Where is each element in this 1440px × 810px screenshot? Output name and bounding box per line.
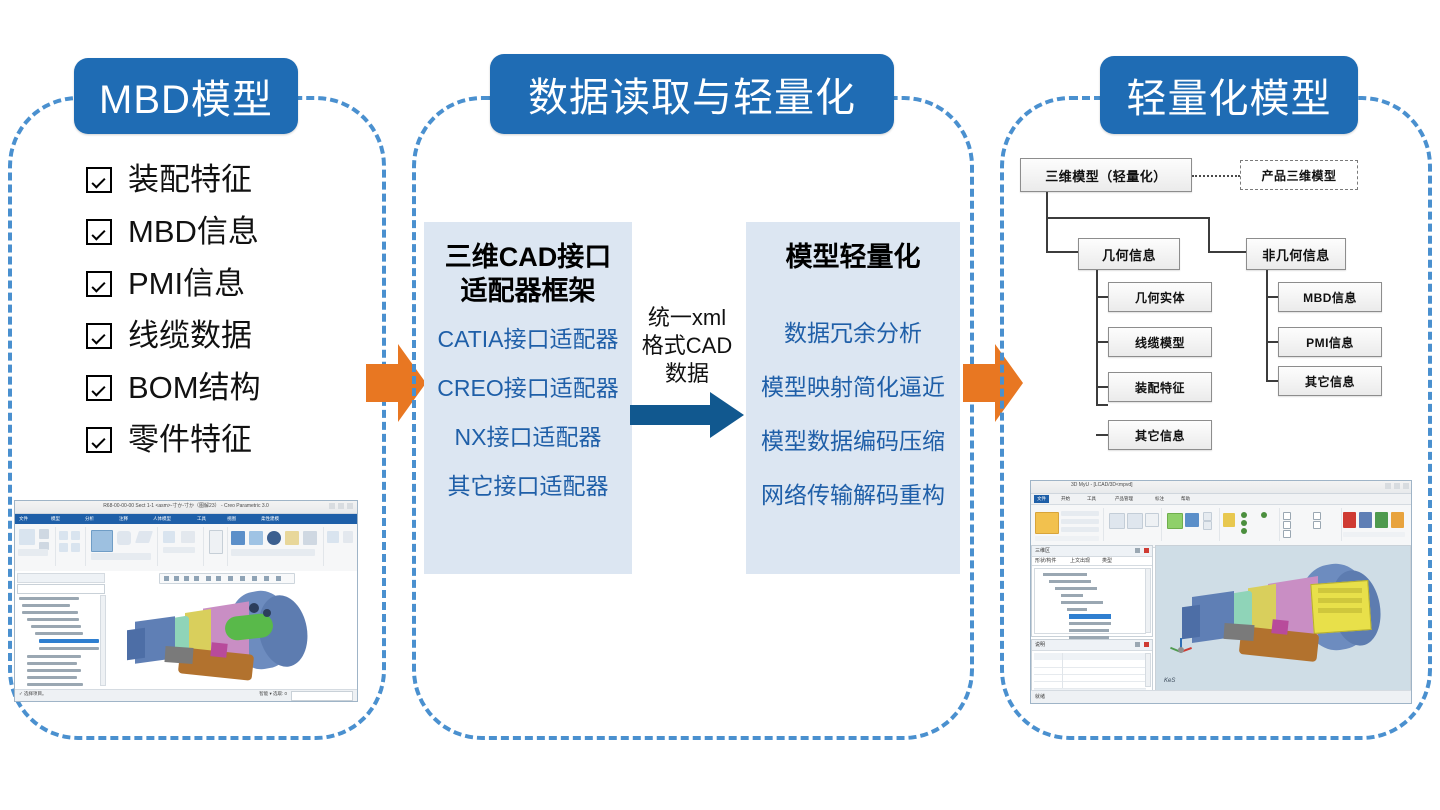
model-lightweighting-box: 模型轻量化 数据冗余分析 模型映射简化逼近 模型数据编码压缩 网络传输解码重构 bbox=[746, 222, 960, 574]
structure-panel[interactable]: 三维区 形状/构件 上文出现 类型 bbox=[1031, 545, 1153, 637]
properties-grid[interactable] bbox=[1034, 653, 1146, 688]
list-item[interactable]: 模型映射简化逼近 bbox=[746, 372, 960, 402]
minimize-icon[interactable] bbox=[1385, 483, 1391, 489]
tab-model[interactable]: 模型 bbox=[51, 515, 60, 523]
workspace: 三维区 形状/构件 上文出现 类型 bbox=[1031, 545, 1411, 691]
tree-line bbox=[1046, 192, 1048, 219]
list-item[interactable]: CATIA接口适配器 bbox=[424, 324, 632, 354]
tab-flexible-modeling[interactable]: 柔性建模 bbox=[261, 515, 279, 523]
blue-flow-arrow bbox=[630, 392, 744, 438]
ribbon[interactable] bbox=[1031, 505, 1411, 548]
pin-icon[interactable] bbox=[1135, 548, 1140, 553]
ribbon-tabbar[interactable]: 文件 开始 工具 产品管理 标注 帮助 bbox=[1031, 494, 1411, 505]
status-text-left: ✓ 选择项目。 bbox=[19, 691, 47, 697]
tree-line bbox=[1208, 251, 1248, 253]
ribbon[interactable] bbox=[15, 524, 357, 573]
tree-line bbox=[1046, 251, 1080, 253]
list-item[interactable]: NX接口适配器 bbox=[424, 422, 632, 452]
list-item: 零件特征 bbox=[40, 420, 360, 460]
checklist-label: BOM结构 bbox=[128, 368, 261, 408]
cad-interface-adapter-list: CATIA接口适配器 CREO接口适配器 NX接口适配器 其它接口适配器 bbox=[424, 324, 632, 501]
tab-manikin[interactable]: 人体模型 bbox=[153, 515, 171, 523]
statusbar: ✓ 选择项目。 智能 ▾ 选取: 0 bbox=[15, 689, 357, 701]
tab-start[interactable]: 开始 bbox=[1061, 495, 1070, 503]
tree-line bbox=[1046, 217, 1048, 253]
list-item[interactable]: 网络传输解码重构 bbox=[746, 480, 960, 510]
xml-format-label: 统一xml 格式CAD 数据 bbox=[624, 304, 750, 388]
tab-view[interactable]: 视图 bbox=[227, 515, 236, 523]
checklist-label: PMI信息 bbox=[128, 264, 245, 304]
list-item[interactable]: CREO接口适配器 bbox=[424, 373, 632, 403]
lightweight-viewer-screenshot: 3D MyU - [LCAD/3D<mpvd] 文件 开始 工具 产品管理 标注… bbox=[1030, 480, 1412, 704]
list-item[interactable]: 模型数据编码压缩 bbox=[746, 426, 960, 456]
status-text-right: 智能 ▾ 选取: 0 bbox=[259, 691, 287, 697]
checkbox-checked-icon bbox=[86, 375, 112, 401]
list-item: 线缆数据 bbox=[40, 316, 360, 356]
tab-shapes[interactable]: 形状/构件 bbox=[1035, 557, 1056, 564]
tab-tools[interactable]: 工具 bbox=[197, 515, 206, 523]
checkbox-checked-icon bbox=[86, 427, 112, 453]
cad-model-graphic bbox=[1162, 560, 1412, 672]
model-tree-toolbar[interactable] bbox=[17, 573, 105, 583]
statusbar: 就绪 bbox=[1031, 690, 1411, 703]
ribbon-group-structure bbox=[1219, 508, 1280, 541]
checklist-label: 零件特征 bbox=[128, 420, 252, 460]
tab-occurrences[interactable]: 上文出现 bbox=[1070, 557, 1090, 564]
tree-node-geometry-info: 几何信息 bbox=[1078, 238, 1180, 270]
tree-node-other-info-geometry: 其它信息 bbox=[1108, 420, 1212, 450]
model-tree-panel[interactable] bbox=[15, 571, 108, 690]
list-item: 装配特征 bbox=[40, 160, 360, 200]
status-combobox[interactable] bbox=[291, 691, 353, 701]
ribbon-group-visibility bbox=[1161, 508, 1220, 541]
maximize-icon[interactable] bbox=[1394, 483, 1400, 489]
tree-node-nongeometry-info: 非几何信息 bbox=[1246, 238, 1346, 270]
ribbon-group-datum bbox=[55, 527, 86, 566]
tab-file[interactable]: 文件 bbox=[1034, 495, 1049, 503]
3d-viewport[interactable] bbox=[107, 571, 357, 690]
checklist-label: 装配特征 bbox=[128, 160, 252, 200]
close-icon[interactable] bbox=[1144, 642, 1149, 647]
properties-panel-title: 说明 bbox=[1035, 641, 1045, 648]
ribbon-group-view bbox=[1103, 508, 1162, 541]
checkbox-checked-icon bbox=[86, 323, 112, 349]
tree-line bbox=[1096, 296, 1108, 298]
tab-annotate[interactable]: 标注 bbox=[1155, 495, 1164, 503]
ribbon-tabbar[interactable]: 文件 模型 分析 注释 人体模型 工具 视图 柔性建模 bbox=[15, 514, 357, 524]
properties-scrollbar[interactable] bbox=[1145, 653, 1151, 687]
checkbox-checked-icon bbox=[86, 271, 112, 297]
window-title: R68-00-00-00 Sect 1-1 <asm>-寸か-寸か（图解23） … bbox=[103, 502, 269, 509]
window-title: 3D MyU - [LCAD/3D<mpvd] bbox=[1071, 482, 1133, 488]
list-item[interactable]: 其它接口适配器 bbox=[424, 471, 632, 501]
ribbon-group-modelintent bbox=[227, 527, 324, 566]
panel-mid-title: 数据读取与轻量化 bbox=[490, 54, 894, 134]
tree-node-assembly-feature: 装配特征 bbox=[1108, 372, 1212, 402]
tree-node-pmi-info: PMI信息 bbox=[1278, 327, 1382, 357]
tree-line bbox=[1266, 380, 1278, 382]
viewport-toolbar[interactable] bbox=[159, 573, 295, 584]
3d-viewport[interactable]: KeS bbox=[1155, 545, 1411, 691]
window-titlebar: 3D MyU - [LCAD/3D<mpvd] bbox=[1031, 481, 1411, 494]
list-item[interactable]: 数据冗余分析 bbox=[746, 318, 960, 348]
model-tree-scrollbar[interactable] bbox=[100, 595, 106, 686]
tree-line bbox=[1266, 341, 1278, 343]
checklist-label: 线缆数据 bbox=[128, 316, 252, 356]
cad-interface-adapter-box: 三维CAD接口 适配器框架 CATIA接口适配器 CREO接口适配器 NX接口适… bbox=[424, 222, 632, 574]
list-item: BOM结构 bbox=[40, 368, 360, 408]
ribbon-group-shapes bbox=[85, 527, 158, 566]
ribbon-group-workpiece bbox=[1279, 508, 1342, 541]
structure-scrollbar[interactable] bbox=[1145, 568, 1151, 633]
tree-node-product-model: 产品三维模型 bbox=[1240, 160, 1358, 190]
tree-node-root: 三维模型（轻量化） bbox=[1020, 158, 1192, 192]
creo-parametric-screenshot: R68-00-00-00 Sect 1-1 <asm>-寸か-寸か（图解23） … bbox=[14, 500, 358, 702]
tree-node-other-info-nongeometry: 其它信息 bbox=[1278, 366, 1382, 396]
ribbon-group-operations bbox=[1031, 508, 1104, 541]
close-icon[interactable] bbox=[347, 503, 353, 509]
ribbon-group-operations bbox=[15, 527, 56, 566]
ribbon-group-pattern bbox=[203, 527, 228, 566]
diagram-canvas: MBD模型 装配特征 MBD信息 PMI信息 线缆数据 BOM结构 零件特征 R… bbox=[0, 0, 1440, 810]
checklist-label: MBD信息 bbox=[128, 212, 259, 252]
viewport-watermark: KeS bbox=[1164, 678, 1175, 684]
close-icon[interactable] bbox=[1403, 483, 1409, 489]
tab-tools[interactable]: 工具 bbox=[1087, 495, 1096, 503]
tree-line bbox=[1096, 434, 1108, 436]
mbd-checklist: 装配特征 MBD信息 PMI信息 线缆数据 BOM结构 零件特征 bbox=[40, 160, 360, 472]
checkbox-checked-icon bbox=[86, 219, 112, 245]
maximize-icon[interactable] bbox=[338, 503, 344, 509]
properties-panel[interactable]: 说明 bbox=[1031, 639, 1153, 691]
status-text: 就绪 bbox=[1035, 693, 1045, 700]
list-item: MBD信息 bbox=[40, 212, 360, 252]
ribbon-group-output bbox=[1341, 508, 1411, 541]
panel-left-title: MBD模型 bbox=[74, 58, 298, 134]
tree-node-mbd-info: MBD信息 bbox=[1278, 282, 1382, 312]
window-titlebar: R68-00-00-00 Sect 1-1 <asm>-寸か-寸か（图解23） … bbox=[15, 501, 357, 514]
model-tree-search[interactable] bbox=[17, 584, 105, 594]
tree-node-geometry-entity: 几何实体 bbox=[1108, 282, 1212, 312]
tab-types[interactable]: 类型 bbox=[1102, 557, 1112, 564]
model-lightweighting-title: 模型轻量化 bbox=[746, 222, 960, 274]
ribbon-group-window bbox=[323, 527, 357, 566]
tab-product-mgmt[interactable]: 产品管理 bbox=[1115, 495, 1133, 503]
tree-line bbox=[1046, 217, 1210, 219]
tree-line bbox=[1266, 270, 1268, 382]
tree-line bbox=[1266, 296, 1278, 298]
tab-analysis[interactable]: 分析 bbox=[85, 515, 94, 523]
tree-dotted-connector bbox=[1192, 175, 1240, 177]
cad-interface-adapter-title: 三维CAD接口 适配器框架 bbox=[424, 222, 632, 308]
minimize-icon[interactable] bbox=[329, 503, 335, 509]
model-lightweighting-list: 数据冗余分析 模型映射简化逼近 模型数据编码压缩 网络传输解码重构 bbox=[746, 318, 960, 510]
tab-annotate[interactable]: 注释 bbox=[119, 515, 128, 523]
pin-icon[interactable] bbox=[1135, 642, 1140, 647]
tree-line bbox=[1096, 404, 1108, 406]
tab-file[interactable]: 文件 bbox=[19, 515, 28, 523]
list-item: PMI信息 bbox=[40, 264, 360, 304]
workspace bbox=[15, 571, 357, 690]
lightweight-model-tree: 三维模型（轻量化） 产品三维模型 几何信息 非几何信息 几何实体 线缆模型 装配… bbox=[1020, 158, 1420, 468]
panel-right-title: 轻量化模型 bbox=[1100, 56, 1358, 134]
tree-line bbox=[1208, 217, 1210, 253]
checkbox-checked-icon bbox=[86, 167, 112, 193]
axis-triad-icon bbox=[1168, 636, 1194, 662]
tab-help[interactable]: 帮助 bbox=[1181, 495, 1190, 503]
tree-node-cable-model: 线缆模型 bbox=[1108, 327, 1212, 357]
cad-model-graphic bbox=[107, 585, 357, 689]
tree-line bbox=[1096, 341, 1108, 343]
tree-line bbox=[1096, 386, 1108, 388]
ribbon-group-engineering bbox=[157, 527, 204, 566]
structure-panel-title: 三维区 bbox=[1035, 547, 1050, 554]
close-icon[interactable] bbox=[1144, 548, 1149, 553]
structure-tree[interactable] bbox=[1034, 568, 1146, 634]
